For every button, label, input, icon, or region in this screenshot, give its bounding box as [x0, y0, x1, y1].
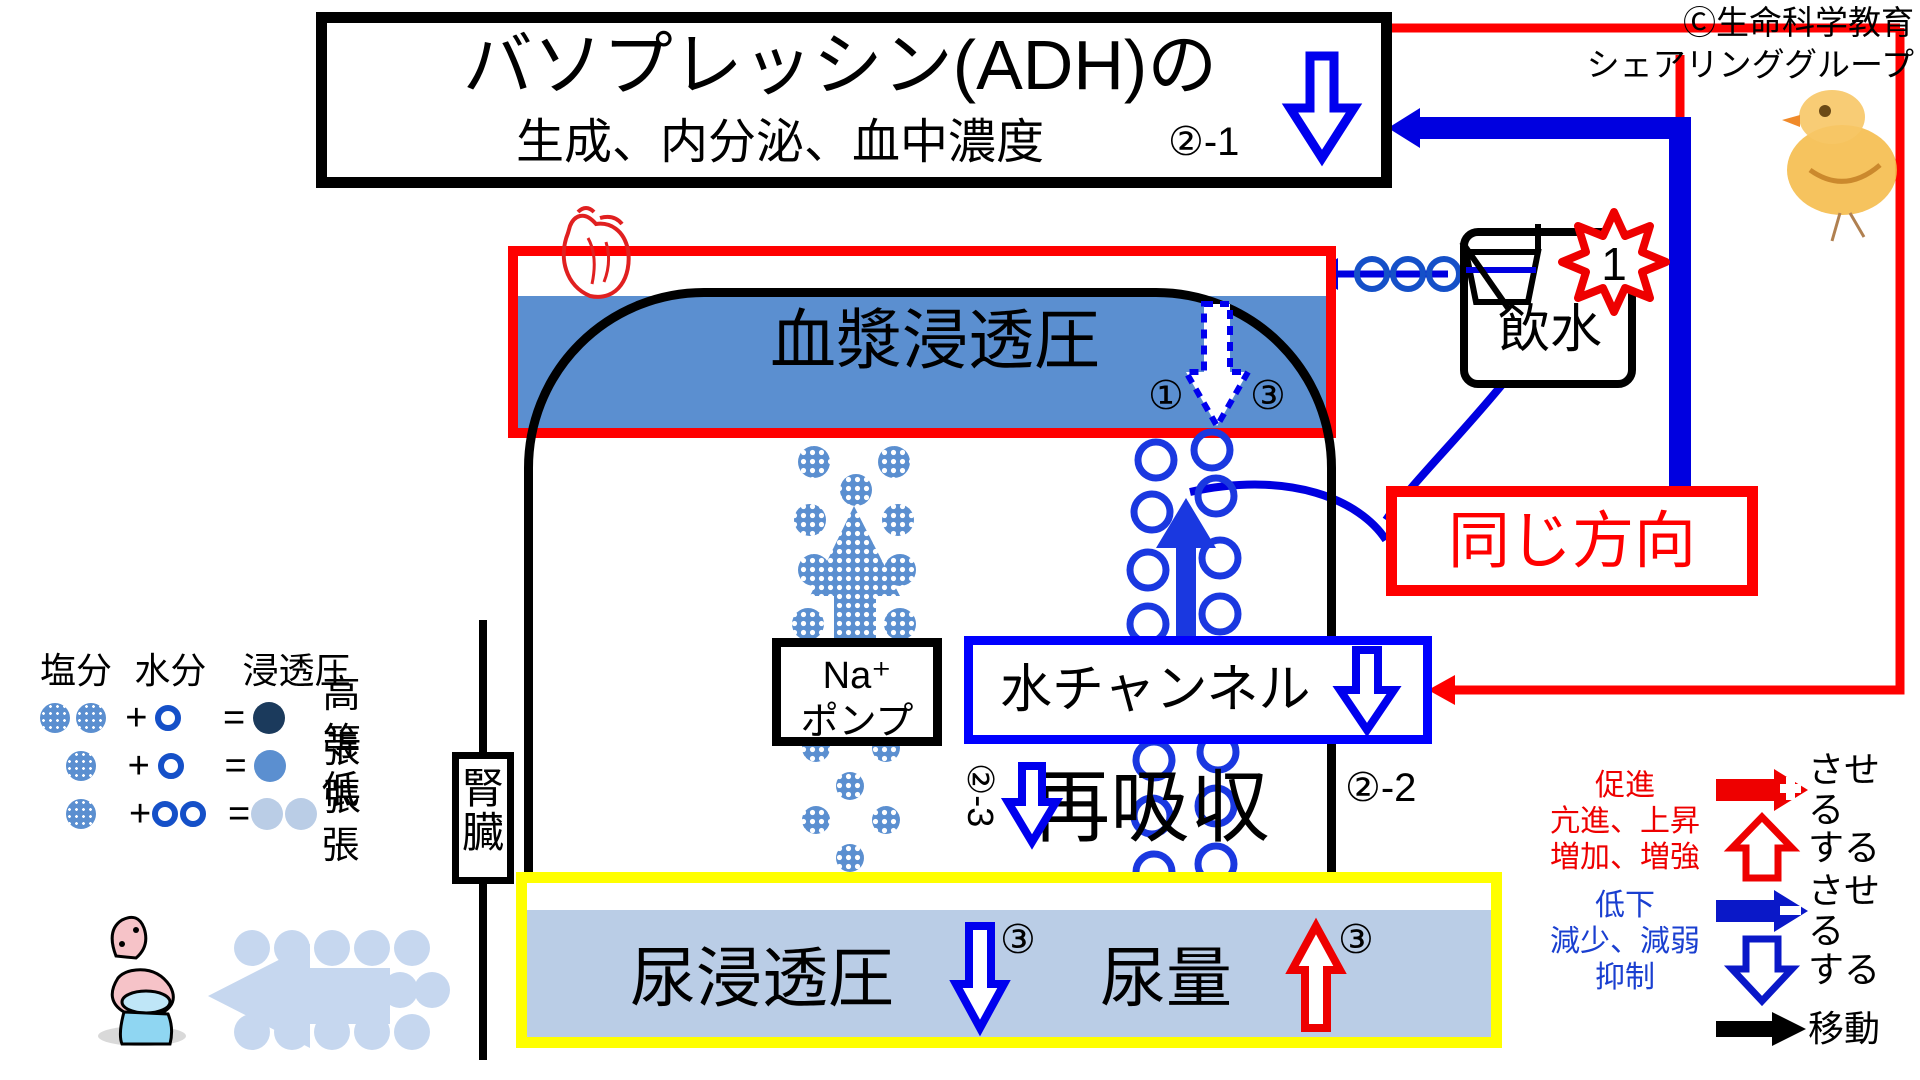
osmolality-dot-icon: [254, 750, 286, 782]
legend-blue-suffix1: させる: [1808, 871, 1914, 951]
legend-blue-line3: 抑制: [1534, 960, 1716, 996]
legend-row-hypotonic: + = 低張: [40, 790, 390, 838]
legend-red-suffix2: する: [1808, 828, 1880, 868]
heart-icon: [548, 198, 644, 308]
red-outline-up-arrow-icon: [1716, 814, 1808, 882]
salt-dot-icon: [40, 703, 70, 733]
legend-blue-line1: 低下: [1534, 888, 1716, 924]
sodium-pump-box: Na⁺ ポンプ: [772, 638, 942, 746]
red-up-arrow-outline-icon-urine: [1288, 922, 1344, 1034]
legend-red-text-group: 促進 亢進、上昇 増加、増強: [1534, 768, 1716, 876]
legend-plus: +: [129, 793, 152, 836]
legend-header-salt: 塩分: [40, 648, 134, 694]
arrow-meaning-legend: 促進 亢進、上昇 増加、増強 させる する 低下 減少、減弱: [1534, 768, 1914, 1052]
legend-header-water: 水分: [134, 648, 242, 694]
water-ring-icon: [152, 801, 178, 827]
white-dashed-down-arrow-icon: [1182, 300, 1252, 432]
legend-plus: +: [125, 697, 155, 740]
blue-filled-right-arrow-minus-icon: [1716, 890, 1808, 932]
step-marker-1: ①: [1148, 374, 1184, 418]
step-badge-1-text: 1: [1601, 238, 1627, 290]
water-channel-label: 水チャンネル: [1000, 648, 1310, 732]
toilet-icon: [98, 917, 186, 1046]
water-ring-icon: [155, 705, 181, 731]
step-marker-2-3: ②-3: [961, 763, 999, 803]
kidney-label: 腎 臓: [452, 752, 514, 884]
osmolality-dot-icon: [285, 798, 317, 830]
copyright-notice: Ⓒ生命科学教育 シェアリンググループ: [1587, 2, 1914, 86]
osmolality-dot-icon: [253, 702, 285, 734]
water-ring-icon: [180, 801, 206, 827]
salt-dot-icon: [66, 751, 96, 781]
legend-equals: =: [228, 793, 251, 836]
legend-blue-line2: 減少、減弱: [1534, 924, 1716, 960]
urine-osmolality-label: 尿浸透圧: [630, 938, 894, 1018]
tonicity-legend: 塩分 水分 浸透圧 + = 高張 + = 等張: [40, 648, 390, 838]
salt-dot-icon: [66, 799, 96, 829]
sodium-pump-line1: Na⁺: [781, 653, 933, 699]
legend-red-line1: 促進: [1534, 768, 1716, 804]
blue-down-arrow-outline-icon-channel: [1336, 646, 1398, 736]
legend-red-suffix1: させる: [1808, 750, 1914, 830]
blue-down-arrow-outline-icon-reab: [1004, 762, 1060, 848]
legend-red-line2: 亢進、上昇: [1534, 804, 1716, 840]
black-filled-right-arrow-icon: [1716, 1012, 1808, 1046]
legend-move-label: 移動: [1808, 1009, 1880, 1049]
step-marker-2-1: ②-1: [1168, 120, 1239, 164]
step-badge-1-starburst: 1: [1562, 210, 1666, 314]
kidney-char2: 臓: [459, 811, 507, 855]
legend-blue-suffix2: する: [1808, 950, 1880, 990]
water-glass-icon: [1442, 228, 1562, 328]
step-marker-3-urine-osm: ③: [1000, 918, 1036, 962]
chick-mascot-icon: [1770, 75, 1920, 245]
legend-blue-text-group: 低下 減少、減弱 抑制: [1534, 888, 1716, 996]
blue-down-arrow-outline-icon: [1286, 52, 1358, 164]
reabsorption-label: 再吸収: [1030, 760, 1270, 856]
red-filled-right-arrow-plus-icon: [1716, 769, 1808, 811]
salt-dot-icon: [76, 703, 106, 733]
step-marker-2-2: ②-2: [1345, 766, 1416, 810]
water-ring-icon: [158, 753, 184, 779]
osmolality-dot-icon: [251, 798, 283, 830]
plasma-osmolality-label: 血漿浸透圧: [770, 300, 1100, 380]
page-title-line1: バソプレッシン(ADH)の: [340, 22, 1340, 108]
step-marker-3-plasma: ③: [1250, 374, 1286, 418]
urine-volume-label: 尿量: [1100, 938, 1232, 1018]
legend-equals: =: [223, 697, 253, 740]
blue-outline-down-arrow-icon: [1716, 936, 1808, 1004]
kidney-char1: 腎: [459, 767, 507, 811]
legend-plus: +: [128, 745, 158, 788]
page-title-line2: 生成、内分泌、血中濃度: [340, 112, 1220, 174]
copyright-line1: Ⓒ生命科学教育: [1587, 2, 1914, 44]
same-direction-label: 同じ方向: [1396, 500, 1748, 584]
legend-red-line3: 増加、増強: [1534, 840, 1716, 876]
legend-equals: =: [224, 745, 254, 788]
step-marker-3-urine-vol: ③: [1338, 918, 1374, 962]
sodium-pump-line2: ポンプ: [781, 699, 933, 745]
urine-outflow-group: [60, 900, 480, 1080]
legend-label-hypotonic: 低張: [322, 759, 390, 869]
